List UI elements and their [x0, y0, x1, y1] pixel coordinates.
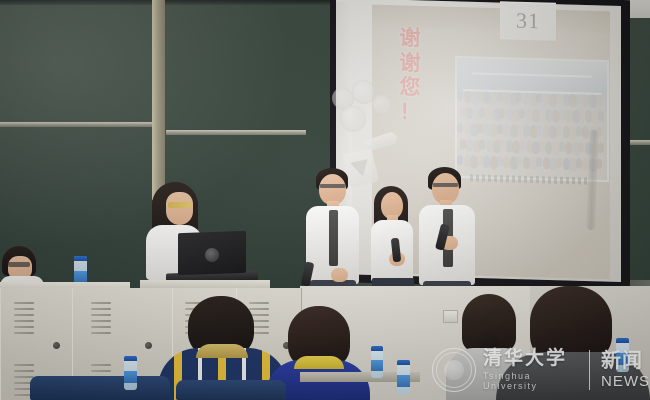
- watermark-university-en: Tsinghua University: [483, 371, 578, 391]
- locker-vent: [14, 376, 34, 378]
- seal-inner: [444, 360, 464, 380]
- asus-logo: [205, 248, 219, 262]
- laptop-operator-glasses: [168, 202, 191, 208]
- audience-striped-polo-collar: [196, 344, 248, 358]
- photograph-scene: 31 谢 谢 您 ！: [0, 0, 650, 400]
- bottle-label: [124, 371, 137, 383]
- bottle-label: [371, 360, 383, 371]
- presenter-left-tie: [329, 210, 338, 266]
- chalkboard-rail-horizontal: [0, 122, 160, 127]
- chair-center: [176, 380, 286, 400]
- locker-vent: [14, 320, 34, 322]
- presenter-left-glasses: [320, 184, 345, 188]
- water-bottle-front-3: [397, 360, 410, 394]
- locker-vent: [14, 370, 34, 372]
- presenter-left-hand: [331, 268, 348, 282]
- watermark-news-en: NEWS: [601, 373, 650, 390]
- watermark-news-cn: 新闻: [601, 351, 650, 371]
- wall-socket: [443, 310, 458, 323]
- locker-handle[interactable]: [53, 342, 60, 349]
- chalkboard-divider-vertical: [152, 0, 165, 200]
- seated-attendee-left-glasses: [8, 262, 30, 267]
- locker-vent: [14, 302, 34, 304]
- watermark-news: 新闻 NEWS: [601, 351, 650, 390]
- water-bottle-front-1: [124, 356, 137, 390]
- bottle-label: [397, 375, 410, 387]
- locker-vent: [91, 302, 111, 304]
- locker-handle[interactable]: [145, 342, 152, 349]
- watermark: 清华大学 Tsinghua University 新闻 NEWS: [432, 344, 650, 396]
- bottle-cap: [124, 356, 137, 361]
- watermark-university: 清华大学 Tsinghua University: [483, 349, 578, 391]
- laptop-operator-face: [166, 192, 193, 225]
- locker-vent: [91, 320, 111, 322]
- bottle-cap: [616, 338, 629, 343]
- locker-vent: [249, 308, 269, 310]
- locker-vent: [91, 370, 111, 372]
- locker-vent: [91, 308, 111, 310]
- locker-vent: [91, 332, 111, 334]
- watermark-university-cn: 清华大学: [483, 349, 578, 368]
- locker-vent: [14, 326, 34, 328]
- locker-vent: [91, 314, 111, 316]
- locker-vent: [14, 364, 34, 366]
- presenter-right-glasses: [433, 183, 458, 187]
- locker-vent: [14, 314, 34, 316]
- chalkboard-rail-horizontal-2: [166, 130, 306, 135]
- bottle-cap: [371, 346, 383, 351]
- water-bottle-front-2: [371, 346, 383, 378]
- bottle-cap: [397, 360, 410, 365]
- watermark-divider: [589, 350, 591, 390]
- audience-blue-yellow-collar: [294, 356, 344, 369]
- locker-vent: [91, 364, 111, 366]
- locker-vent: [14, 332, 34, 334]
- locker-vent: [249, 302, 269, 304]
- chair-left: [30, 376, 170, 400]
- locker-vent: [91, 326, 111, 328]
- locker-vent: [14, 308, 34, 310]
- tsinghua-seal-icon: [432, 348, 476, 392]
- bottle-cap: [74, 256, 87, 261]
